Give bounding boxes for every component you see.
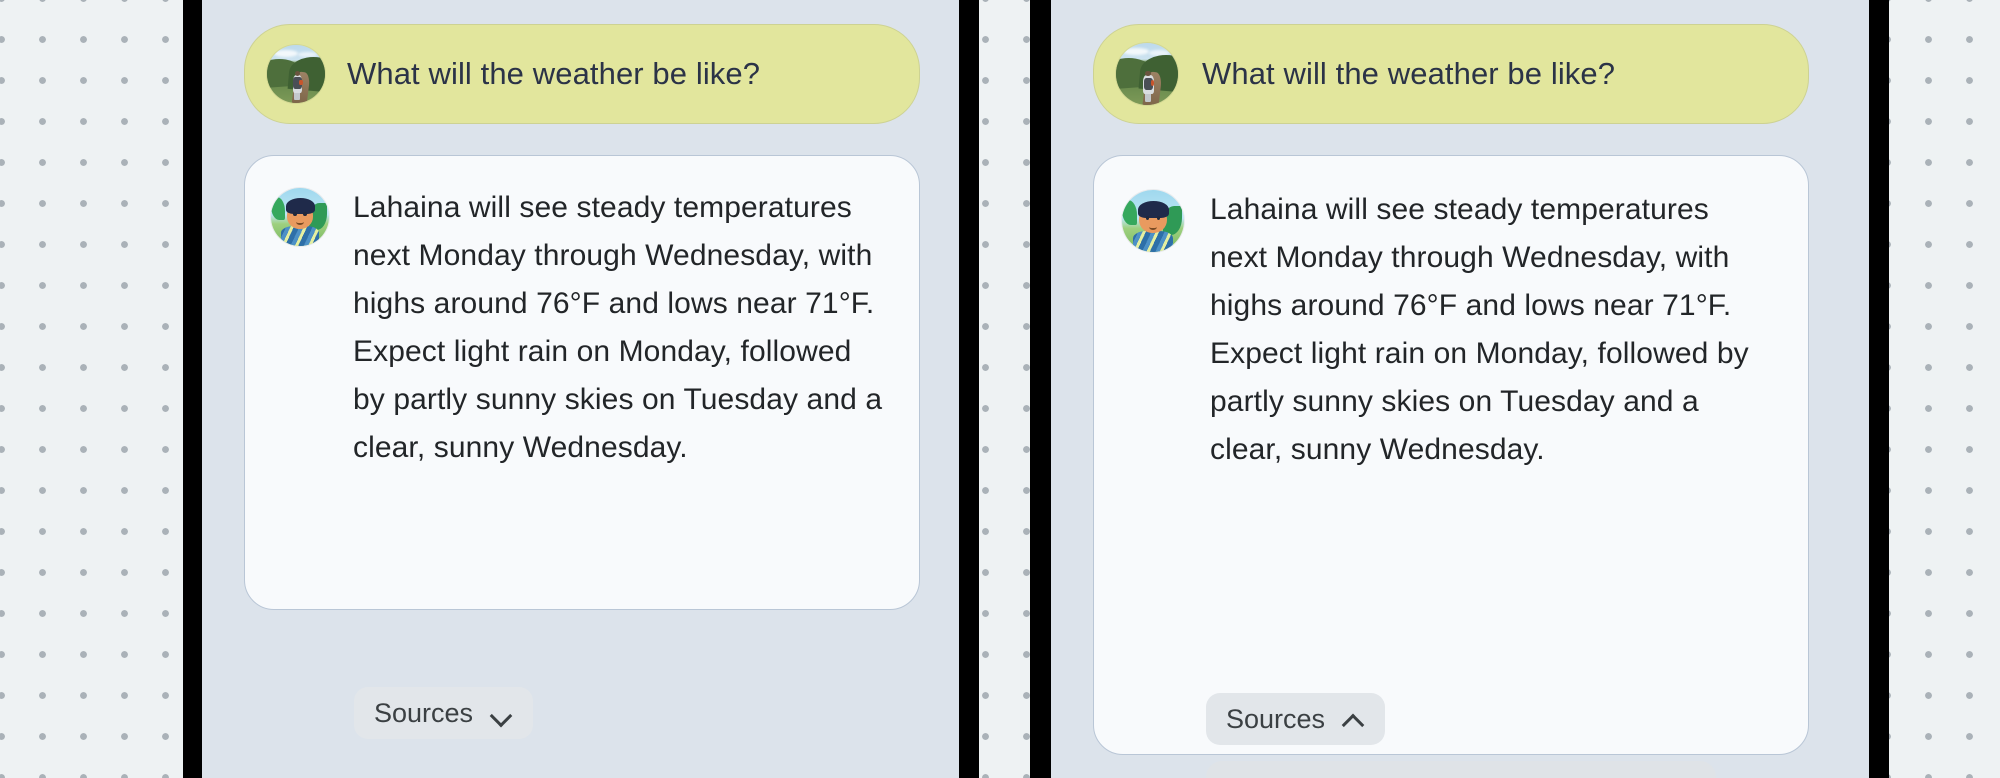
- island-character-avatar: [1122, 190, 1184, 252]
- chevron-up-icon: [1343, 713, 1365, 726]
- chevron-down-icon: [491, 707, 513, 720]
- sources-chip-label: Sources: [1226, 704, 1325, 735]
- hiker-photo-avatar: [267, 45, 325, 103]
- panel-divider-middle-left: [959, 0, 979, 778]
- panel-divider-middle-right: [1030, 0, 1051, 778]
- hiker-photo-avatar: [1116, 43, 1178, 105]
- assistant-message-card: Lahaina will see steady temperatures nex…: [1093, 155, 1809, 755]
- source-result-card[interactable]: Google Maps Weather for Lahaina - Google: [1206, 761, 1716, 778]
- user-message-text: What will the weather be like?: [1202, 56, 1615, 92]
- user-message-bubble: What will the weather be like?: [1093, 24, 1809, 124]
- sources-chip-label: Sources: [374, 698, 473, 729]
- panel-divider-right: [1869, 0, 1889, 778]
- sources-toggle-button[interactable]: Sources: [354, 687, 533, 739]
- island-character-avatar: [271, 188, 329, 246]
- sources-toggle-button[interactable]: Sources: [1206, 693, 1385, 745]
- assistant-message-text: Lahaina will see steady temperatures nex…: [1210, 186, 1755, 474]
- panel-divider-left: [183, 0, 202, 778]
- user-message-text: What will the weather be like?: [347, 56, 760, 92]
- assistant-message-text: Lahaina will see steady temperatures nex…: [353, 184, 883, 472]
- screenshot-stage: What will the weather be like? La: [0, 0, 2000, 778]
- user-message-bubble: What will the weather be like?: [244, 24, 920, 124]
- conversation-panel-collapsed: What will the weather be like? La: [202, 0, 959, 778]
- assistant-message-card: Lahaina will see steady temperatures nex…: [244, 155, 920, 610]
- conversation-panel-expanded: What will the weather be like? La: [1051, 0, 1869, 778]
